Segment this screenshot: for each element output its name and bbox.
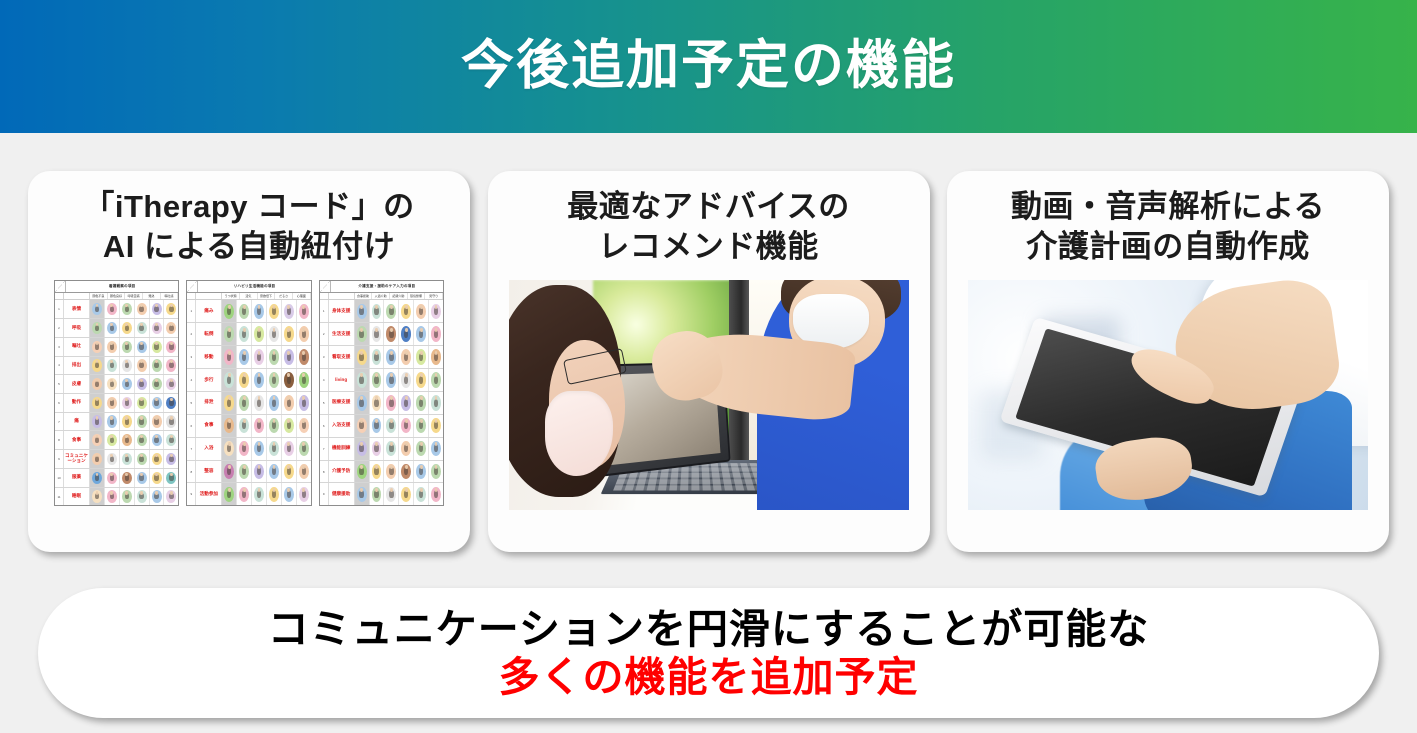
- pictogram-cell: [297, 346, 311, 368]
- row-cells: [222, 392, 310, 414]
- table-row: 9コミュニケーション: [55, 450, 178, 469]
- pictogram-cell: [252, 461, 267, 483]
- pictogram-icon: [107, 490, 117, 502]
- pictogram-cell: [384, 369, 399, 391]
- pictogram-cell: [222, 300, 237, 322]
- pictogram-icon: [239, 395, 249, 411]
- row-cells: [90, 394, 178, 412]
- pictogram-icon: [239, 304, 249, 320]
- pictogram-icon: [372, 487, 382, 503]
- row-cells: [222, 483, 310, 505]
- pictogram-cell: [267, 392, 282, 414]
- pictogram-icon: [254, 372, 264, 388]
- row-label: 睡眠: [64, 488, 90, 506]
- pictogram-cell: [150, 357, 165, 375]
- pictogram-cell: [355, 415, 370, 437]
- pictogram-cell: [135, 375, 150, 393]
- pictogram-cell: [105, 357, 120, 375]
- pictogram-icon: [254, 418, 264, 434]
- table-row: 9活動参加: [187, 483, 310, 505]
- pictogram-cell: [414, 392, 429, 414]
- pictogram-cell: [414, 346, 429, 368]
- pictogram-cell: [90, 413, 105, 431]
- pictogram-icon: [92, 490, 102, 502]
- pictogram-icon: [166, 453, 176, 465]
- pictogram-icon: [416, 487, 426, 503]
- pictogram-cell: [105, 300, 120, 318]
- pictogram-cell: [429, 483, 443, 505]
- pictogram-icon: [122, 453, 132, 465]
- row-label: 生活支援: [329, 323, 355, 345]
- row-label: 健康援助: [329, 483, 355, 505]
- card-3-title-line1: 動画・音声解析による: [1011, 187, 1325, 227]
- card-1-title-line2: AI による自動紐付け: [83, 227, 414, 267]
- pictogram-cell: [150, 469, 165, 487]
- pictogram-icon: [122, 415, 132, 427]
- pictogram-icon: [284, 372, 294, 388]
- pictogram-cell: [164, 394, 178, 412]
- summary-banner-line1: コミュニケーションを円滑にすることが可能な: [268, 605, 1150, 653]
- table-row: 3移動: [187, 346, 310, 369]
- pictogram-icon: [357, 304, 367, 320]
- table-row: 7痛: [55, 413, 178, 432]
- pictogram-cell: [399, 346, 414, 368]
- row-index: 6: [320, 415, 329, 437]
- card-3-media: [961, 280, 1375, 538]
- pictogram-cell: [414, 483, 429, 505]
- pictogram-icon: [107, 341, 117, 353]
- pictogram-icon: [372, 349, 382, 365]
- card-1-media: 看護観察の項目 顔色不良 顔色良好 呼吸苦痛 発熱 嘔吐感 1表情 2呼吸: [42, 280, 456, 538]
- pictogram-icon: [431, 349, 441, 365]
- pictogram-cell: [370, 461, 385, 483]
- summary-banner: コミュニケーションを円滑にすることが可能な 多くの機能を追加予定: [38, 588, 1379, 718]
- feature-card-1[interactable]: 「iTherapy コード」の AI による自動紐付け 看護観察の項目 顔色不良…: [28, 171, 470, 552]
- pictogram-cell: [429, 392, 443, 414]
- table-row: 6入浴支援: [320, 415, 443, 438]
- pictogram-icon: [92, 397, 102, 409]
- table-row: 1痛み: [187, 300, 310, 323]
- pictogram-cell: [90, 450, 105, 468]
- table-row: 8食事: [55, 431, 178, 450]
- col-label-spacer: [64, 293, 90, 299]
- code-table-2-body: 1痛み 2転倒 3移動 4歩行 5排泄 6食事 7入浴 8整容 9活動参加: [187, 300, 310, 505]
- code-table-1-heading: 看護観察の項目: [66, 281, 178, 292]
- row-index: 8: [320, 461, 329, 483]
- table-row: 4living: [320, 369, 443, 392]
- pictogram-icon: [152, 397, 162, 409]
- table-row: 1表情: [55, 300, 178, 319]
- pictogram-cell: [370, 323, 385, 345]
- code-table-3-column-headers: 食事援助 入浴介助 記録介助 環境整備 見守り: [320, 293, 443, 300]
- row-label: 身体支援: [329, 300, 355, 322]
- pictogram-icon: [166, 322, 176, 334]
- row-cells: [355, 300, 443, 322]
- pictogram-cell: [267, 461, 282, 483]
- photo-consultation-tablet: [509, 280, 909, 510]
- pictogram-icon: [284, 441, 294, 457]
- pictogram-cell: [429, 369, 443, 391]
- pictogram-icon: [269, 372, 279, 388]
- table-row: 1身体支援: [320, 300, 443, 323]
- pictogram-cell: [90, 319, 105, 337]
- pictogram-cell: [135, 300, 150, 318]
- table-row: 8整容: [187, 461, 310, 484]
- pictogram-icon: [431, 487, 441, 503]
- pictogram-icon: [239, 418, 249, 434]
- pictogram-icon: [107, 415, 117, 427]
- pictogram-cell: [384, 392, 399, 414]
- row-cells: [355, 392, 443, 414]
- row-label: 機能訓練: [329, 438, 355, 460]
- feature-card-3[interactable]: 動画・音声解析による 介護計画の自動作成: [947, 171, 1389, 552]
- pictogram-cell: [120, 300, 135, 318]
- pictogram-icon: [284, 326, 294, 342]
- pictogram-icon: [299, 395, 309, 411]
- column-caption: 呼吸苦痛: [125, 293, 143, 299]
- pictogram-icon: [416, 418, 426, 434]
- table-row: 4歩行: [187, 369, 310, 392]
- row-cells: [90, 450, 178, 468]
- pictogram-cell: [252, 415, 267, 437]
- row-index: 3: [187, 346, 196, 368]
- row-cells: [222, 438, 310, 460]
- pictogram-cell: [370, 369, 385, 391]
- row-label: 痛み: [196, 300, 222, 322]
- pictogram-cell: [105, 413, 120, 431]
- pictogram-icon: [239, 326, 249, 342]
- pictogram-cell: [164, 357, 178, 375]
- pictogram-icon: [269, 326, 279, 342]
- photo-medical-tablet: [968, 280, 1368, 510]
- pictogram-icon: [107, 303, 117, 315]
- card-2-title: 最適なアドバイスの レコメンド機能: [567, 187, 850, 266]
- pictogram-icon: [239, 487, 249, 503]
- pictogram-cell: [399, 461, 414, 483]
- pictogram-icon: [431, 441, 441, 457]
- table-row: 5排泄: [187, 392, 310, 415]
- pictogram-cell: [135, 469, 150, 487]
- pictogram-icon: [224, 326, 234, 342]
- card-3-title: 動画・音声解析による 介護計画の自動作成: [1011, 187, 1325, 266]
- pictogram-cell: [135, 431, 150, 449]
- pictogram-icon: [372, 372, 382, 388]
- pictogram-cell: [282, 392, 297, 414]
- table-corner-icon: [187, 281, 198, 292]
- pictogram-icon: [357, 372, 367, 388]
- pictogram-cell: [429, 300, 443, 322]
- pictogram-cell: [222, 323, 237, 345]
- pictogram-icon: [107, 472, 117, 484]
- pictogram-icon: [386, 372, 396, 388]
- row-index: 9: [55, 450, 64, 468]
- pictogram-cell: [120, 338, 135, 356]
- column-caption: だるさ: [275, 293, 293, 299]
- pictogram-cell: [384, 438, 399, 460]
- pictogram-cell: [297, 392, 311, 414]
- pictogram-cell: [150, 450, 165, 468]
- pictogram-icon: [152, 359, 162, 371]
- pictogram-icon: [386, 349, 396, 365]
- table-corner-icon: [320, 281, 331, 292]
- pictogram-cell: [355, 438, 370, 460]
- row-cells: [222, 346, 310, 368]
- row-label: 移動: [196, 346, 222, 368]
- row-label: 転倒: [196, 323, 222, 345]
- pictogram-icon: [254, 395, 264, 411]
- table-row: 5皮膚: [55, 375, 178, 394]
- pictogram-icon: [92, 378, 102, 390]
- pictogram-cell: [282, 323, 297, 345]
- row-index: 4: [187, 369, 196, 391]
- pictogram-cell: [120, 488, 135, 506]
- code-table-2: リハビリ生活機能の項目 うつ状態 活気 意欲低下 だるさ 心理面 1痛み 2転倒: [186, 280, 311, 506]
- pictogram-icon: [254, 441, 264, 457]
- column-caption: 嘔吐感: [161, 293, 179, 299]
- pictogram-cell: [399, 415, 414, 437]
- row-label: 看取支援: [329, 346, 355, 368]
- pictogram-cell: [282, 415, 297, 437]
- column-caption: 心理面: [293, 293, 311, 299]
- pictogram-cell: [429, 461, 443, 483]
- pictogram-cell: [414, 300, 429, 322]
- pictogram-icon: [152, 415, 162, 427]
- pictogram-cell: [105, 431, 120, 449]
- pictogram-code-sheet: 看護観察の項目 顔色不良 顔色良好 呼吸苦痛 発熱 嘔吐感 1表情 2呼吸: [54, 280, 444, 506]
- pictogram-cell: [237, 415, 252, 437]
- pictogram-cell: [429, 415, 443, 437]
- pictogram-icon: [416, 304, 426, 320]
- pictogram-cell: [414, 323, 429, 345]
- pictogram-cell: [384, 461, 399, 483]
- pictogram-icon: [122, 303, 132, 315]
- pictogram-cell: [355, 346, 370, 368]
- pictogram-icon: [386, 418, 396, 434]
- row-label: 整容: [196, 461, 222, 483]
- pictogram-cell: [237, 438, 252, 460]
- pictogram-icon: [284, 304, 294, 320]
- pictogram-icon: [357, 418, 367, 434]
- pictogram-cell: [150, 375, 165, 393]
- pictogram-icon: [239, 464, 249, 480]
- pictogram-cell: [282, 346, 297, 368]
- row-cells: [90, 488, 178, 506]
- pictogram-icon: [269, 418, 279, 434]
- pictogram-icon: [372, 418, 382, 434]
- pictogram-icon: [401, 441, 411, 457]
- pictogram-icon: [284, 418, 294, 434]
- row-index: 4: [55, 357, 64, 375]
- pictogram-icon: [224, 441, 234, 457]
- pictogram-cell: [267, 483, 282, 505]
- pictogram-icon: [92, 359, 102, 371]
- row-cells: [355, 346, 443, 368]
- pictogram-cell: [267, 415, 282, 437]
- pictogram-icon: [254, 349, 264, 365]
- row-index: 2: [55, 319, 64, 337]
- pictogram-cell: [370, 415, 385, 437]
- pictogram-icon: [416, 372, 426, 388]
- pictogram-icon: [386, 395, 396, 411]
- column-caption: 顔色不良: [90, 293, 108, 299]
- pictogram-icon: [137, 322, 147, 334]
- pictogram-cell: [267, 438, 282, 460]
- pictogram-icon: [269, 487, 279, 503]
- pictogram-icon: [401, 418, 411, 434]
- pictogram-icon: [92, 453, 102, 465]
- pictogram-icon: [269, 464, 279, 480]
- pictogram-icon: [107, 397, 117, 409]
- pictogram-icon: [357, 395, 367, 411]
- pictogram-cell: [90, 338, 105, 356]
- row-cells: [355, 323, 443, 345]
- pictogram-icon: [137, 359, 147, 371]
- pictogram-icon: [254, 464, 264, 480]
- row-index: 4: [320, 369, 329, 391]
- pictogram-icon: [137, 490, 147, 502]
- pictogram-icon: [239, 441, 249, 457]
- pictogram-icon: [431, 326, 441, 342]
- pictogram-cell: [105, 338, 120, 356]
- pictogram-cell: [429, 346, 443, 368]
- pictogram-icon: [166, 378, 176, 390]
- pictogram-cell: [355, 483, 370, 505]
- row-cells: [90, 375, 178, 393]
- pictogram-cell: [90, 488, 105, 506]
- pictogram-cell: [150, 394, 165, 412]
- pictogram-cell: [297, 483, 311, 505]
- column-caption: 記録介助: [390, 293, 408, 299]
- pictogram-icon: [166, 490, 176, 502]
- pictogram-cell: [90, 375, 105, 393]
- row-index: 1: [55, 300, 64, 318]
- column-caption: 食事援助: [355, 293, 373, 299]
- column-caption: 顔色良好: [108, 293, 126, 299]
- row-label: コミュニケーション: [64, 450, 90, 468]
- pictogram-cell: [252, 438, 267, 460]
- col-index-spacer: [187, 293, 196, 299]
- pictogram-cell: [120, 394, 135, 412]
- pictogram-cell: [297, 323, 311, 345]
- row-label: 医療支援: [329, 392, 355, 414]
- pictogram-icon: [137, 453, 147, 465]
- pictogram-cell: [384, 346, 399, 368]
- pictogram-cell: [267, 369, 282, 391]
- feature-card-2[interactable]: 最適なアドバイスの レコメンド機能: [488, 171, 930, 552]
- pictogram-icon: [299, 349, 309, 365]
- table-row: 5医療支援: [320, 392, 443, 415]
- pictogram-cell: [252, 300, 267, 322]
- pictogram-icon: [284, 487, 294, 503]
- row-label: 服薬: [64, 469, 90, 487]
- pictogram-cell: [414, 438, 429, 460]
- pictogram-cell: [105, 450, 120, 468]
- pictogram-cell: [429, 438, 443, 460]
- pictogram-icon: [401, 326, 411, 342]
- pictogram-cell: [237, 392, 252, 414]
- pictogram-icon: [357, 464, 367, 480]
- row-label: 食事: [64, 431, 90, 449]
- pictogram-icon: [166, 415, 176, 427]
- pictogram-cell: [297, 438, 311, 460]
- pictogram-cell: [414, 461, 429, 483]
- pictogram-cell: [120, 375, 135, 393]
- pictogram-icon: [122, 359, 132, 371]
- page-header: 今後追加予定の機能: [0, 0, 1417, 133]
- pictogram-icon: [137, 397, 147, 409]
- row-cells: [222, 369, 310, 391]
- pictogram-icon: [284, 395, 294, 411]
- pictogram-cell: [399, 369, 414, 391]
- pictogram-cell: [399, 392, 414, 414]
- row-cells: [90, 319, 178, 337]
- row-index: 1: [320, 300, 329, 322]
- pictogram-icon: [284, 349, 294, 365]
- pictogram-cell: [282, 438, 297, 460]
- table-row: 2生活支援: [320, 323, 443, 346]
- row-label: 歩行: [196, 369, 222, 391]
- pictogram-cell: [384, 415, 399, 437]
- row-cells: [90, 413, 178, 431]
- pictogram-icon: [107, 322, 117, 334]
- pictogram-cell: [370, 438, 385, 460]
- pictogram-icon: [137, 472, 147, 484]
- pictogram-icon: [386, 487, 396, 503]
- pictogram-cell: [164, 300, 178, 318]
- pictogram-cell: [150, 488, 165, 506]
- row-cells: [222, 415, 310, 437]
- card-1-title-line1: 「iTherapy コード」の: [83, 187, 414, 227]
- row-index: 3: [320, 346, 329, 368]
- pictogram-icon: [137, 341, 147, 353]
- pictogram-cell: [135, 357, 150, 375]
- pictogram-cell: [237, 346, 252, 368]
- pictogram-cell: [237, 483, 252, 505]
- pictogram-cell: [355, 300, 370, 322]
- row-cells: [355, 369, 443, 391]
- table-row: 6食事: [187, 415, 310, 438]
- table-corner-icon: [55, 281, 66, 292]
- pictogram-icon: [372, 464, 382, 480]
- pictogram-cell: [267, 323, 282, 345]
- pictogram-cell: [297, 461, 311, 483]
- pictogram-cell: [222, 346, 237, 368]
- page-title: 今後追加予定の機能: [461, 37, 956, 95]
- pictogram-icon: [122, 472, 132, 484]
- pictogram-icon: [431, 304, 441, 320]
- pictogram-cell: [252, 392, 267, 414]
- row-index: 9: [187, 483, 196, 505]
- pictogram-icon: [401, 304, 411, 320]
- table-row: 2転倒: [187, 323, 310, 346]
- pictogram-icon: [152, 303, 162, 315]
- pictogram-icon: [269, 349, 279, 365]
- pictogram-icon: [284, 464, 294, 480]
- row-label: 入浴支援: [329, 415, 355, 437]
- pictogram-cell: [399, 438, 414, 460]
- pictogram-cell: [150, 431, 165, 449]
- table-row: 3看取支援: [320, 346, 443, 369]
- pictogram-icon: [92, 472, 102, 484]
- pictogram-cell: [399, 323, 414, 345]
- row-index: 7: [55, 413, 64, 431]
- pictogram-icon: [224, 395, 234, 411]
- code-table-1-body: 1表情 2呼吸 3嘔吐 4排出 5皮膚 6動作 7痛 8食事 9コミュニケーショ…: [55, 300, 178, 505]
- pictogram-icon: [299, 372, 309, 388]
- pictogram-icon: [239, 349, 249, 365]
- table-row: 8介護予防: [320, 461, 443, 484]
- col-index-spacer: [55, 293, 64, 299]
